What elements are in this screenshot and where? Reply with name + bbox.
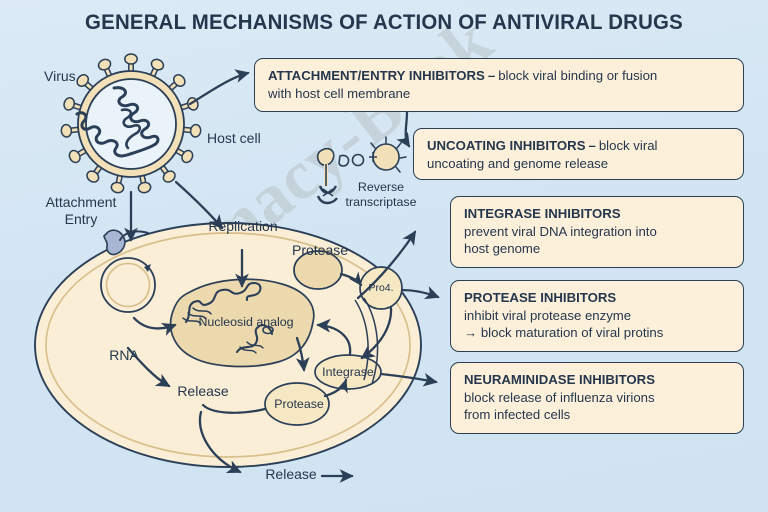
label-reverse-transcriptase-line2: transcriptase [346,195,417,209]
box-line2: from infected cells [464,406,732,424]
label-protease-top: Protease [292,242,348,258]
label-reverse-transcriptase-line1: Reverse [358,180,404,194]
box-line2: with host cell membrane [268,85,732,103]
box-attachment-entry-inhibitors[interactable]: ATTACHMENT/ENTRY INHIBITORS–block viral … [254,58,744,112]
label-replication: Replication [208,218,277,234]
box-protease-inhibitors[interactable]: PROTEASE INHIBITORS inhibit viral protea… [450,280,744,352]
label-pro4: Pro4. [368,282,393,294]
box-dash: – [488,68,495,83]
box-heading: UNCOATING INHIBITORS [427,138,586,153]
box-heading: NEURAMINIDASE INHIBITORS [464,372,655,387]
box-line1-rest: block viral [599,138,658,153]
label-attachment: Attachment [46,194,117,210]
diagram-canvas: Pharmacy-Book GENERAL MECHANISMS OF ACTI… [0,0,768,512]
box-line1-rest: block viral binding or fusion [498,68,657,83]
label-integrase: Integrase [322,365,374,379]
box-neuraminidase-inhibitors[interactable]: NEURAMINIDASE INHIBITORS block release o… [450,362,744,434]
box-integrase-inhibitors[interactable]: INTEGRASE INHIBITORS prevent viral DNA i… [450,196,744,268]
label-nucleosid-analog: Nucleosid analog [198,315,293,329]
box-line2: host genome [464,240,732,258]
box-line1: prevent viral DNA integration into [464,223,732,241]
box-line1: block release of influenza virions [464,389,732,407]
endosome-vesicle [101,258,155,312]
box-dash: – [589,138,596,153]
label-release-inner: Release [177,383,228,399]
box-heading: PROTEASE INHIBITORS [464,290,616,305]
box-heading: INTEGRASE INHIBITORS [464,206,621,221]
virus-particle [61,54,202,194]
label-protease-bottom: Protease [274,397,324,411]
label-entry: Entry [65,211,98,227]
label-release-outer: Release [265,466,316,482]
label-rna: RNA [109,347,139,363]
box-line2: → block maturation of viral protins [464,324,732,342]
membrane-receptor-icon [104,230,125,254]
label-host-cell: Host cell [207,130,261,146]
box-uncoating-inhibitors[interactable]: UNCOATING INHIBITORS–block viral uncoati… [413,128,744,180]
box-line2: uncoating and genome release [427,155,732,173]
box-line1: inhibit viral protease enzyme [464,307,732,325]
box-heading: ATTACHMENT/ENTRY INHIBITORS [268,68,485,83]
label-virus: Virus [44,68,76,84]
